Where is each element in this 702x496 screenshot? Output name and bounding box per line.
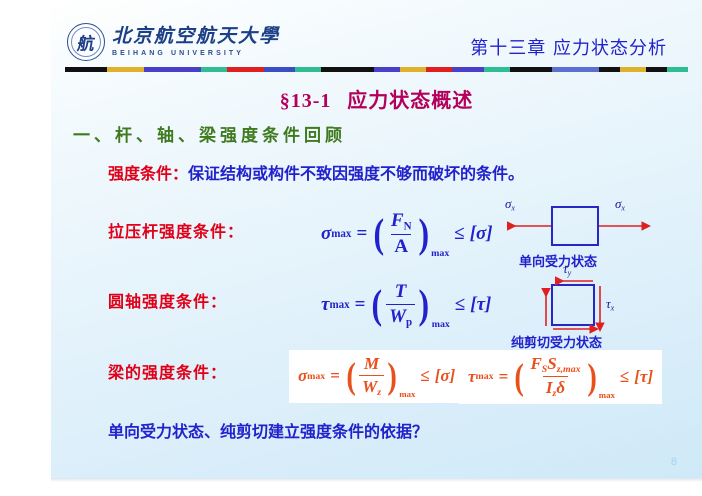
decorative-color-bar [65,67,688,72]
diagram-caption-pure-shear: 纯剪切受力状态 [511,332,602,351]
color-bar-segment [646,67,667,72]
label-subscript: x [621,204,625,213]
formula-lhs-subscript: max [329,299,349,311]
chapter-title: 第十三章 应力状态分析 [470,34,667,60]
denominator-subscript: p [406,317,412,329]
paren-right: ) [418,210,429,258]
color-bar-segment [264,67,295,72]
color-bar-segment [620,67,646,72]
label-subscript: x [511,204,515,213]
paren-group: ( FSSz,max Izδ ) max [513,354,615,399]
formula-circular-shaft: τmax = ( T Wp ) max ≤ [τ] [321,281,491,329]
boxed-formula-bending-normal: σmax = ( M Wz ) max ≤ [σ] [289,350,464,403]
fraction-denominator: Wz [359,375,384,398]
denominator-symbol-a: I [546,378,553,397]
definition-label: 强度条件： [108,164,188,183]
numerator-symbol-b: S [547,354,556,373]
paren-left: ( [346,354,355,398]
paren-group: ( T Wp ) max [370,281,449,329]
paren-subscript: max [431,248,449,259]
color-bar-segment [599,67,620,72]
color-bar-segment [552,67,599,72]
row-label-circular-shaft: 圆轴强度条件： [108,288,227,312]
fraction: FSSz,max Izδ [527,354,583,399]
paren-subscript: max [432,319,450,330]
section-mark: § [280,90,291,112]
slide-canvas: 航 北京航空航天大學 BEIHANG UNIVERSITY 第十三章 应力状态分… [51,0,702,478]
label-tau-x-right: τx [606,296,614,313]
paren-subscript: max [599,390,615,400]
paren-right: ) [587,354,596,399]
color-bar-segment [452,67,483,72]
formula-lhs-symbol: τ [321,294,329,316]
section-number: 13-1 [291,90,332,112]
equals-sign: = [499,367,509,387]
denominator-symbol: W [362,377,377,396]
color-bar-segment [144,67,202,72]
formula-lhs-subscript: max [307,371,325,382]
relation-sign: ≤ [455,294,465,316]
color-bar-segment [107,67,144,72]
relation-sign: ≤ [620,367,629,387]
color-bar-segment [321,67,373,72]
color-bar-segment [426,67,452,72]
paren-subscript: max [399,389,415,399]
paren-left: ( [372,281,383,329]
page-number: 8 [671,456,677,468]
university-seal-icon: 航 [67,23,105,61]
logo-english-name: BEIHANG UNIVERSITY [112,50,280,57]
definition-body: 保证结构或构件不致因强度不够而破坏的条件。 [188,164,524,183]
equals-sign: = [356,223,367,245]
color-bar-segment [400,67,426,72]
sub-heading: 一、杆、轴、梁强度条件回顾 [73,121,346,146]
label-sigma-x-right: σx [615,196,625,213]
formula-tension-bar: σmax = ( FN A ) max ≤ [σ] [321,210,493,258]
color-bar-segment [374,67,400,72]
numerator-symbol: F [391,210,404,231]
boxed-formula-bending-shear: τmax = ( FSSz,max Izδ ) max ≤ [τ] [459,350,662,404]
color-bar-segment [484,67,510,72]
allowable-stress: [σ] [435,366,456,386]
row-label-tension-bar: 拉压杆强度条件： [108,218,244,242]
color-bar-segment [295,67,321,72]
fraction: M Wz [359,354,384,398]
page-title: §13-1 应力状态概述 [51,84,702,113]
color-bar-segment [65,67,107,72]
color-bar-segment [227,67,264,72]
fraction-numerator: FN [388,210,415,234]
relation-sign: ≤ [420,366,429,386]
label-subscript: y [568,269,572,278]
university-logo: 航 北京航空航天大學 BEIHANG UNIVERSITY [67,23,280,61]
paren-right: ) [387,354,396,398]
section-title-text: 应力状态概述 [347,88,473,112]
formula-lhs-subscript: max [331,228,351,240]
label-sigma-x-left: σx [505,196,515,213]
numerator-subscript: N [404,221,412,233]
formula-lhs-symbol: σ [321,223,331,245]
uniaxial-arrows [487,218,677,238]
numerator-symbol: M [364,354,379,373]
formula-lhs-symbol: σ [298,366,307,386]
definition-line: 强度条件：保证结构或构件不致因强度不够而破坏的条件。 [108,160,524,184]
fraction: FN A [388,210,415,258]
label-subscript: x [611,304,615,313]
logo-text-block: 北京航空航天大學 BEIHANG UNIVERSITY [112,27,280,57]
fraction-numerator: T [392,281,410,304]
paren-right: ) [419,281,430,329]
fraction-denominator: Wp [386,304,415,329]
equals-sign: = [330,366,340,386]
fraction-denominator: A [391,234,411,258]
bottom-question: 单向受力状态、纯剪切建立强度条件的依据？ [108,418,428,442]
relation-sign: ≤ [454,223,464,245]
denominator-symbol: W [389,306,406,327]
allowable-shear: [τ] [634,367,653,387]
fraction-numerator: M [361,354,382,375]
denominator-subscript: z [377,387,381,398]
equals-sign: = [355,294,366,316]
row-label-beam: 梁的强度条件： [108,359,227,383]
fraction-numerator: FSSz,max [527,354,583,376]
color-bar-segment [510,67,552,72]
paren-group: ( FN A ) max [372,210,449,258]
fraction-denominator: Izδ [543,376,568,399]
numerator-symbol: T [395,281,407,302]
formula-lhs-symbol: τ [468,367,476,387]
denominator-symbol-b: δ [556,378,565,397]
fraction: T Wp [386,281,415,329]
paren-left: ( [374,210,385,258]
paren-group: ( M Wz ) max [345,354,416,398]
logo-chinese-name: 北京航空航天大學 [112,27,280,47]
formula-lhs-subscript: max [476,371,494,382]
color-bar-segment [667,67,688,72]
denominator-symbol: A [394,236,408,257]
color-bar-segment [201,67,227,72]
paren-left: ( [515,354,524,399]
numerator-subscript-b: z,max [557,364,581,375]
seal-glyph: 航 [76,30,96,55]
label-tau-y-top: τy [563,261,571,278]
slide-shadow [51,478,702,482]
numerator-symbol-a: F [530,354,541,373]
